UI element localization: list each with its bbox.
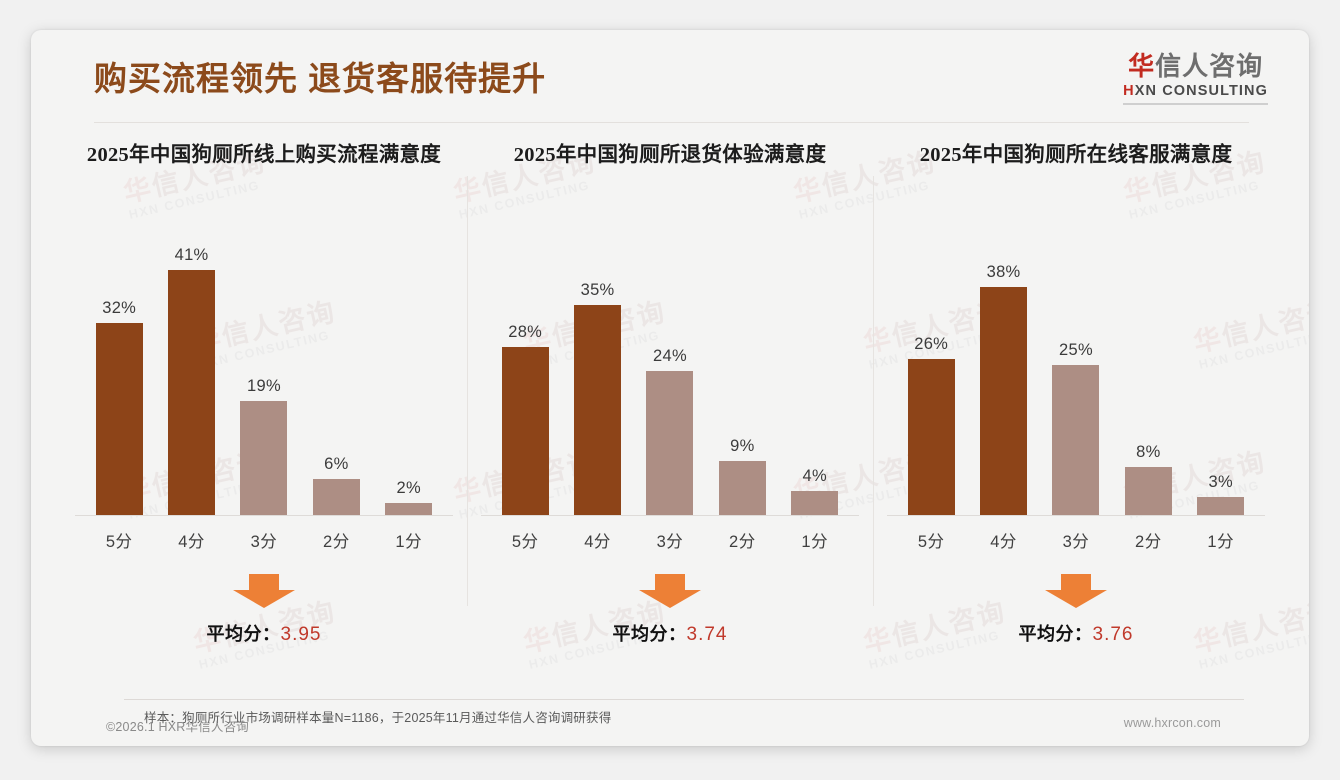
charts-row: 2025年中国狗厕所线上购买流程满意度32%41%19%6%2%5分4分3分2分… [61,142,1279,682]
slide-stage: 华信人咨询HXN CONSULTING华信人咨询HXN CONSULTING华信… [0,0,1340,780]
chart-title: 2025年中国狗厕所线上购买流程满意度 [75,142,453,200]
bar-value-label: 4% [803,467,827,486]
bar[interactable] [1125,467,1172,515]
slide-card: 华信人咨询HXN CONSULTING华信人咨询HXN CONSULTING华信… [31,30,1309,746]
x-axis-tick-label: 2分 [304,528,369,552]
logo-underline [1123,103,1268,105]
bar-group: 4% [782,246,847,515]
arrow-head [639,590,701,608]
bar-plot: 32%41%19%6%2% [75,246,453,516]
bar-group: 3% [1188,246,1253,515]
average-score-value: 3.95 [281,624,322,645]
bar[interactable] [240,401,287,515]
bar-value-label: 19% [247,377,281,396]
average-score-value: 3.74 [687,624,728,645]
x-axis-tick-label: 3分 [1043,528,1108,552]
bar-value-label: 24% [653,347,687,366]
x-axis-tick-label: 5分 [899,528,964,552]
bar[interactable] [980,287,1027,515]
bar-value-label: 41% [175,246,209,265]
down-arrow-icon [639,574,701,608]
bar[interactable] [168,270,215,515]
arrow-shaft [655,574,685,591]
x-axis-tick-label: 5分 [493,528,558,552]
logo-en-rest: XN CONSULTING [1135,83,1268,99]
bar-group: 9% [710,246,775,515]
bar-group: 25% [1043,246,1108,515]
bar-group: 19% [231,246,296,515]
bar-value-label: 25% [1059,341,1093,360]
bar-group: 8% [1116,246,1181,515]
x-axis-tick-label: 1分 [782,528,847,552]
bar-group: 32% [87,246,152,515]
bar[interactable] [385,503,432,515]
logo-chinese-text: 华信人咨询 [1123,52,1268,81]
x-axis-tick-label: 4分 [971,528,1036,552]
average-score-label: 平均分： [207,624,281,644]
bar-value-label: 6% [324,455,348,474]
x-axis-tick-label: 2分 [1116,528,1181,552]
chart-title: 2025年中国狗厕所退货体验满意度 [481,142,859,200]
bar-value-label: 9% [730,437,754,456]
bar-value-label: 26% [914,335,948,354]
average-score: 平均分：3.76 [887,620,1265,646]
chart-title: 2025年中国狗厕所在线客服满意度 [887,142,1265,200]
x-axis-tick-label: 4分 [159,528,224,552]
bar[interactable] [502,347,549,515]
x-axis-tick-label: 3分 [231,528,296,552]
bar[interactable] [1052,365,1099,515]
bar[interactable] [791,491,838,515]
x-axis-tick-label: 3分 [637,528,702,552]
bar-group: 41% [159,246,224,515]
bar-value-label: 35% [581,281,615,300]
bar-group: 38% [971,246,1036,515]
bar-group: 26% [899,246,964,515]
down-arrow-icon [1045,574,1107,608]
x-axis-tick-label: 4分 [565,528,630,552]
bar[interactable] [96,323,143,515]
bar-group: 2% [376,246,441,515]
arrow-shaft [249,574,279,591]
bar-value-label: 2% [397,479,421,498]
bar-plot: 28%35%24%9%4% [481,246,859,516]
bar[interactable] [646,371,693,515]
x-axis-labels: 5分4分3分2分1分 [481,528,859,552]
website-link[interactable]: www.hxrcon.com [1124,716,1221,730]
bar-group: 28% [493,246,558,515]
bar-value-label: 8% [1136,443,1160,462]
average-score: 平均分：3.95 [75,620,453,646]
logo-english-text: HXN CONSULTING [1123,83,1268,99]
chart-panel-1: 2025年中国狗厕所线上购买流程满意度32%41%19%6%2%5分4分3分2分… [61,142,467,682]
arrow-head [1045,590,1107,608]
arrow-shaft [1061,574,1091,591]
footnote-divider [124,699,1244,700]
bar[interactable] [1197,497,1244,515]
page-title: 购买流程领先 退货客服待提升 [94,52,546,100]
slide-footer: ©2026.1 HXR华信人咨询 www.hxrcon.com [31,712,1309,742]
average-score-label: 平均分： [1019,624,1093,644]
bar-plot: 26%38%25%8%3% [887,246,1265,516]
bar[interactable] [908,359,955,515]
average-score-value: 3.76 [1093,624,1134,645]
copyright-text: ©2026.1 HXR华信人咨询 [106,716,249,735]
x-axis-tick-label: 1分 [1188,528,1253,552]
x-axis-labels: 5分4分3分2分1分 [887,528,1265,552]
bar[interactable] [719,461,766,515]
bar-value-label: 38% [987,263,1021,282]
average-score: 平均分：3.74 [481,620,859,646]
bar-value-label: 32% [102,299,136,318]
x-axis-labels: 5分4分3分2分1分 [75,528,453,552]
arrow-container [481,574,859,608]
header-divider [94,122,1249,123]
arrow-container [75,574,453,608]
logo-en-accent: H [1123,83,1135,99]
arrow-container [887,574,1265,608]
bar-value-label: 3% [1209,473,1233,492]
slide-header: 购买流程领先 退货客服待提升 华信人咨询 HXN CONSULTING [31,30,1309,123]
x-axis-tick-label: 1分 [376,528,441,552]
bar-group: 6% [304,246,369,515]
arrow-head [233,590,295,608]
x-axis-tick-label: 2分 [710,528,775,552]
bar[interactable] [313,479,360,515]
x-axis-tick-label: 5分 [87,528,152,552]
logo-rest-chars: 信人咨询 [1155,51,1263,81]
chart-panel-2: 2025年中国狗厕所退货体验满意度28%35%24%9%4%5分4分3分2分1分… [467,142,873,682]
bar-group: 35% [565,246,630,515]
bar[interactable] [574,305,621,515]
average-score-label: 平均分： [613,624,687,644]
brand-logo: 华信人咨询 HXN CONSULTING [1123,52,1268,105]
bar-value-label: 28% [508,323,542,342]
down-arrow-icon [233,574,295,608]
chart-panel-3: 2025年中国狗厕所在线客服满意度26%38%25%8%3%5分4分3分2分1分… [873,142,1279,682]
logo-accent-char: 华 [1128,51,1155,81]
bar-group: 24% [637,246,702,515]
